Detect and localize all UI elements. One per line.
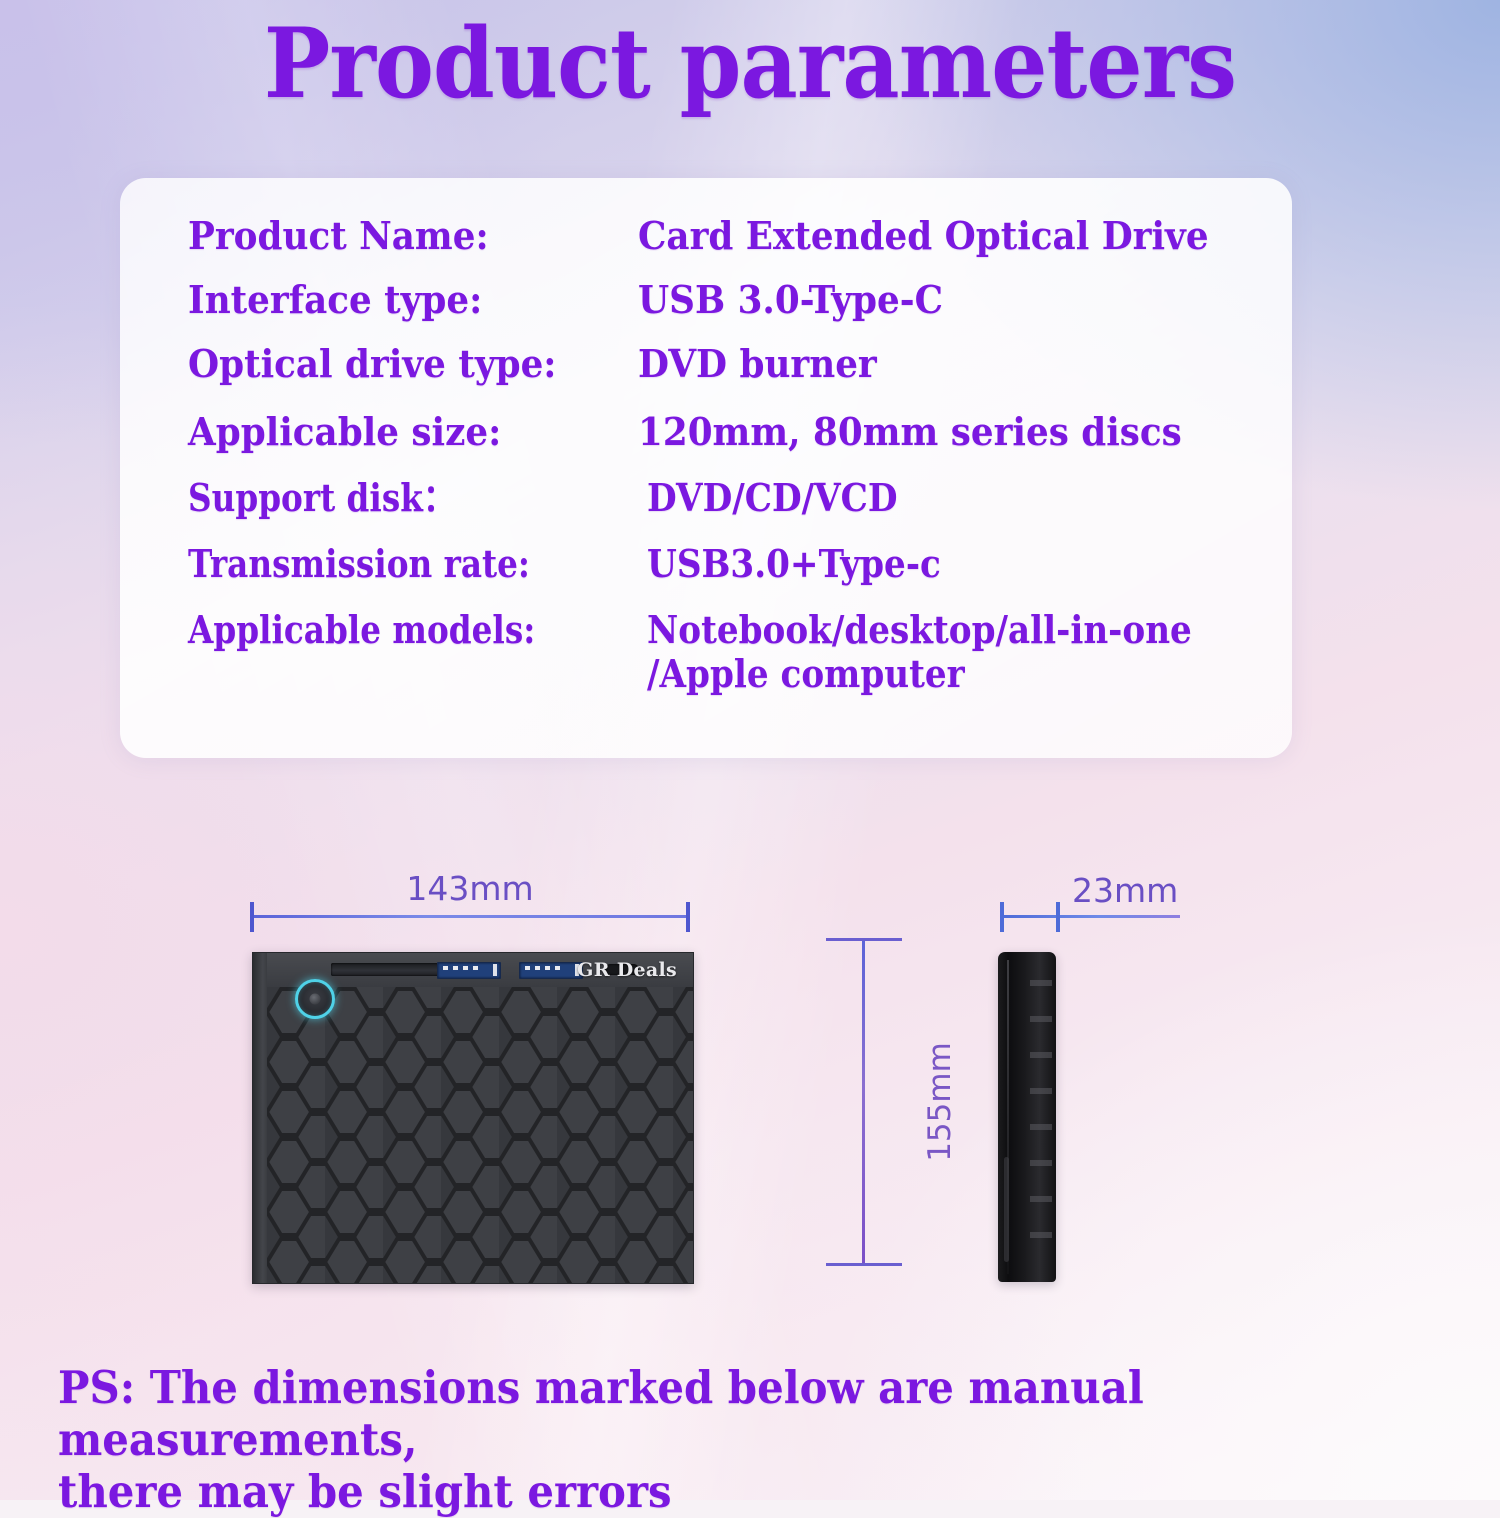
spec-label-applicable-size: Applicable size:: [188, 410, 611, 454]
front-io-panel: GR Deals: [267, 953, 693, 987]
width-dimension-annotation: 143mm: [250, 915, 690, 919]
height-dimension-annotation: 155mm: [862, 938, 866, 1266]
dimension-end-tick-bottom: [826, 1263, 902, 1266]
side-lower-seam: [1004, 1157, 1009, 1263]
table-row: Product Name: Card Extended Optical Driv…: [120, 214, 1292, 258]
spec-value-applicable-size: 120mm, 80mm series discs: [638, 410, 1253, 454]
brand-watermark: GR Deals: [577, 959, 677, 981]
footer-note: PS: The dimensions marked below are manu…: [58, 1362, 1379, 1518]
optical-drive-side-view: [998, 952, 1056, 1282]
table-row: Interface type: USB 3.0-Type-C: [120, 278, 1292, 322]
footer-note-line-1: PS: The dimensions marked below are manu…: [58, 1361, 1144, 1466]
dimension-line: [250, 915, 690, 918]
product-figure: 143mm GR Deals: [0, 860, 1500, 1320]
spec-label-transmission-rate: Transmission rate:: [188, 542, 575, 586]
table-row: Optical drive type: DVD burner: [120, 342, 1292, 386]
power-button-icon: [295, 979, 335, 1019]
table-row: Transmission rate: USB3.0+Type-c: [120, 542, 1292, 586]
height-dimension-label: 155mm: [922, 1042, 958, 1162]
usb-a-port-2-icon: [519, 962, 583, 979]
spec-label-optical-drive-type: Optical drive type:: [188, 342, 611, 386]
spec-value-transmission-rate: USB3.0+Type-c: [638, 542, 1227, 586]
specification-table: Product Name: Card Extended Optical Driv…: [120, 178, 1292, 714]
optical-drive-front-view: GR Deals: [252, 952, 694, 1284]
spec-value-support-disk: DVD/CD/VCD: [638, 476, 1227, 520]
thickness-dimension-annotation: 23mm: [1000, 915, 1180, 919]
dimension-end-tick-left: [250, 902, 254, 932]
spec-value-optical-drive-type: DVD burner: [638, 342, 1253, 386]
sd-card-slot-icon: [331, 963, 443, 976]
usb-a-port-1-icon: [437, 962, 501, 979]
honeycomb-texture: [267, 987, 693, 1283]
dimension-end-tick-top: [826, 938, 902, 941]
spec-label-support-disk: Support disk：: [188, 476, 575, 520]
dimension-end-tick-right: [686, 902, 690, 932]
left-edge-rail: [253, 953, 267, 1283]
spec-value-interface-type: USB 3.0-Type-C: [638, 278, 1253, 322]
dimension-end-tick-right: [1056, 902, 1060, 932]
page-title: Product parameters: [60, 14, 1440, 115]
spec-value-applicable-models: Notebook/desktop/all-in-one /Apple compu…: [638, 608, 1227, 696]
width-dimension-label: 143mm: [396, 869, 543, 908]
table-row: Support disk： DVD/CD/VCD: [120, 476, 1292, 520]
thickness-dimension-label: 23mm: [1072, 871, 1178, 910]
spec-label-product-name: Product Name:: [188, 214, 611, 258]
table-row: Applicable models: Notebook/desktop/all-…: [120, 608, 1292, 696]
spec-label-interface-type: Interface type:: [188, 278, 611, 322]
spec-value-product-name: Card Extended Optical Drive: [638, 214, 1253, 258]
spec-label-applicable-models: Applicable models:: [188, 608, 575, 652]
side-notch-texture: [1030, 980, 1052, 1262]
dimension-line: [1000, 915, 1180, 918]
table-row: Applicable size: 120mm, 80mm series disc…: [120, 410, 1292, 454]
dimension-end-tick-left: [1000, 902, 1004, 932]
dimension-line: [862, 938, 865, 1266]
specification-card: Product Name: Card Extended Optical Driv…: [120, 178, 1292, 758]
footer-note-line-2: there may be slight errors: [58, 1466, 1379, 1518]
